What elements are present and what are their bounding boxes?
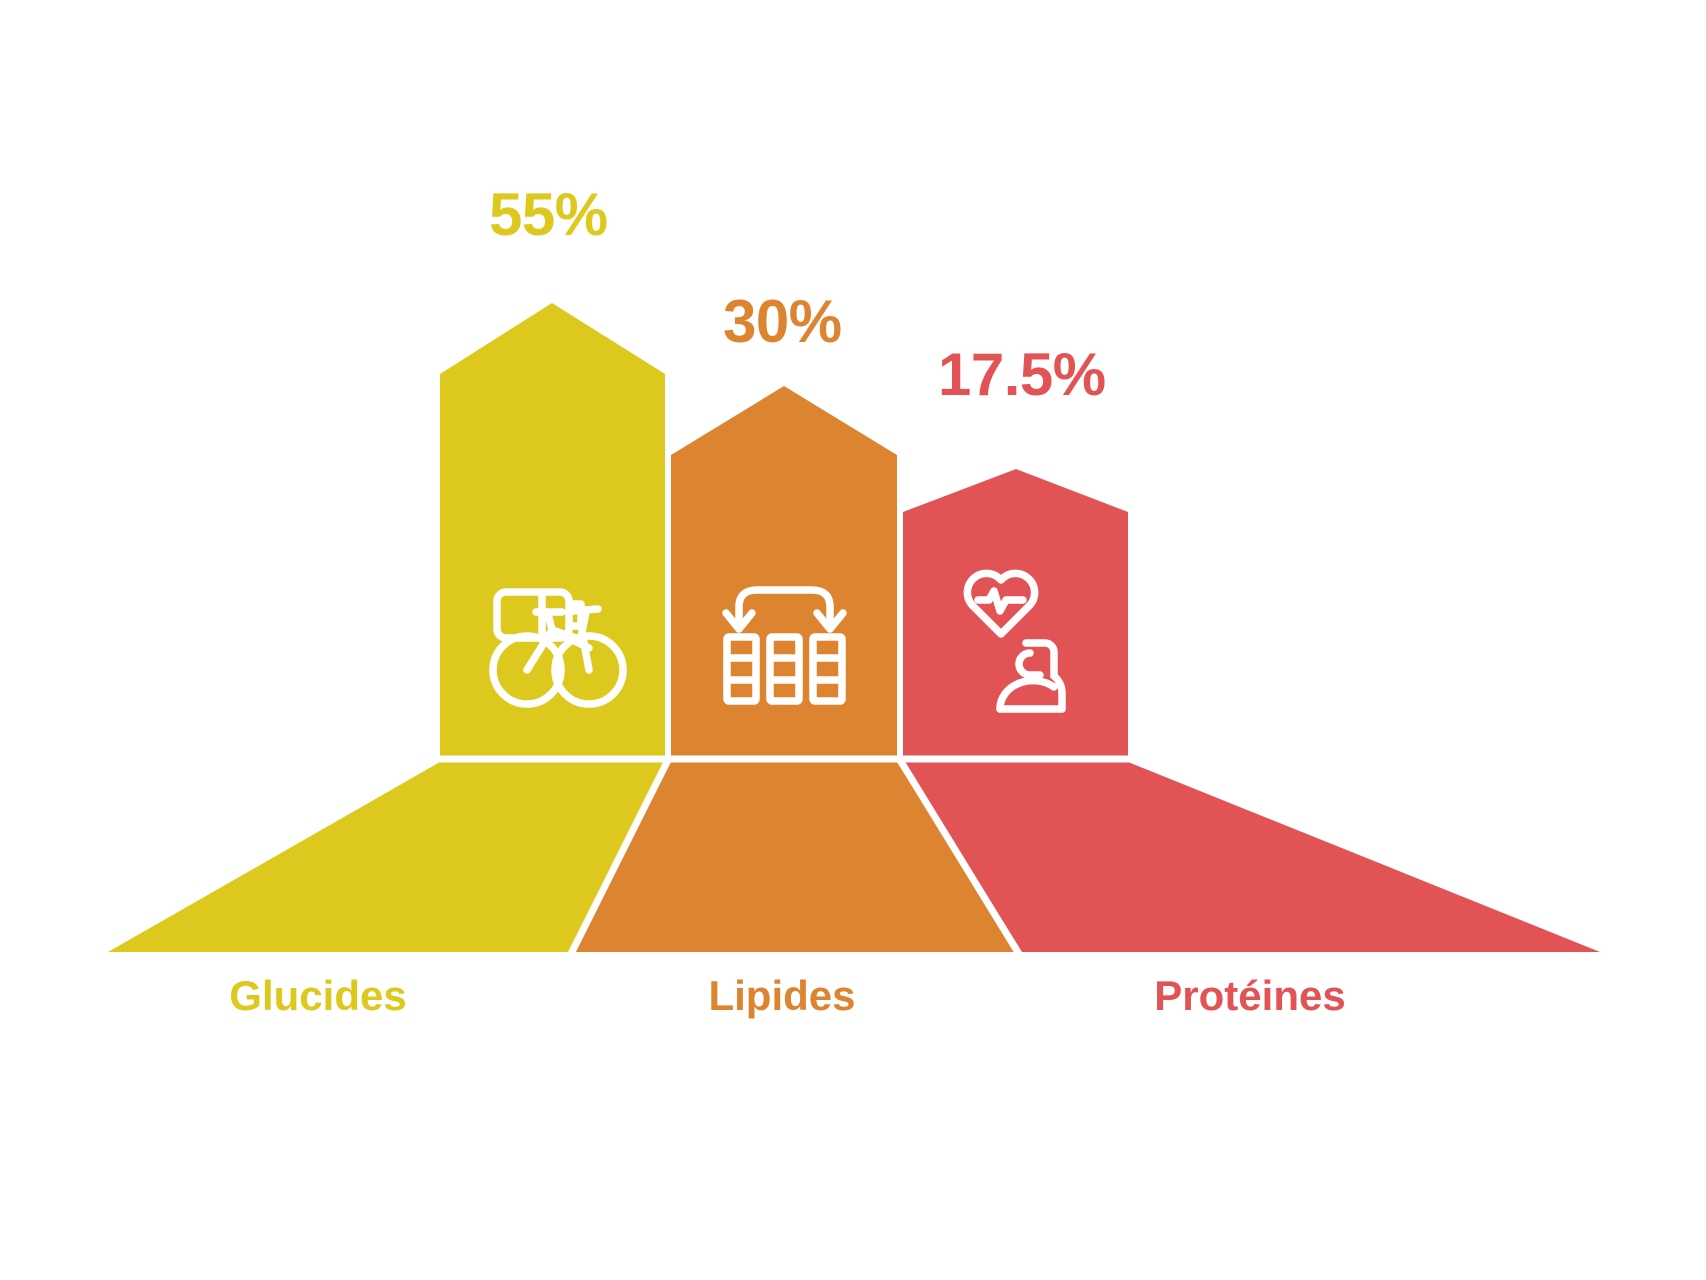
- category-label-proteines: Protéines: [1060, 975, 1440, 1017]
- macronutrient-bar-chart: [0, 0, 1706, 1280]
- infographic-canvas: 55% 30% 17.5% Glucides Lipides Protéines: [0, 0, 1706, 1280]
- bar-glucides[interactable]: [440, 303, 665, 756]
- category-label-lipides: Lipides: [592, 975, 972, 1017]
- bar-proteines-shape[interactable]: [903, 469, 1128, 756]
- value-label-proteines: 17.5%: [938, 345, 1106, 405]
- value-label-glucides: 55%: [489, 185, 608, 245]
- ground-panel-proteines: [903, 762, 1600, 952]
- bar-proteines[interactable]: [903, 469, 1128, 756]
- value-label-lipides: 30%: [723, 292, 842, 352]
- category-label-glucides: Glucides: [128, 975, 508, 1017]
- bar-lipides[interactable]: [671, 386, 897, 756]
- ground-panel-glucides: [108, 762, 665, 952]
- ground-plane: [108, 762, 1600, 952]
